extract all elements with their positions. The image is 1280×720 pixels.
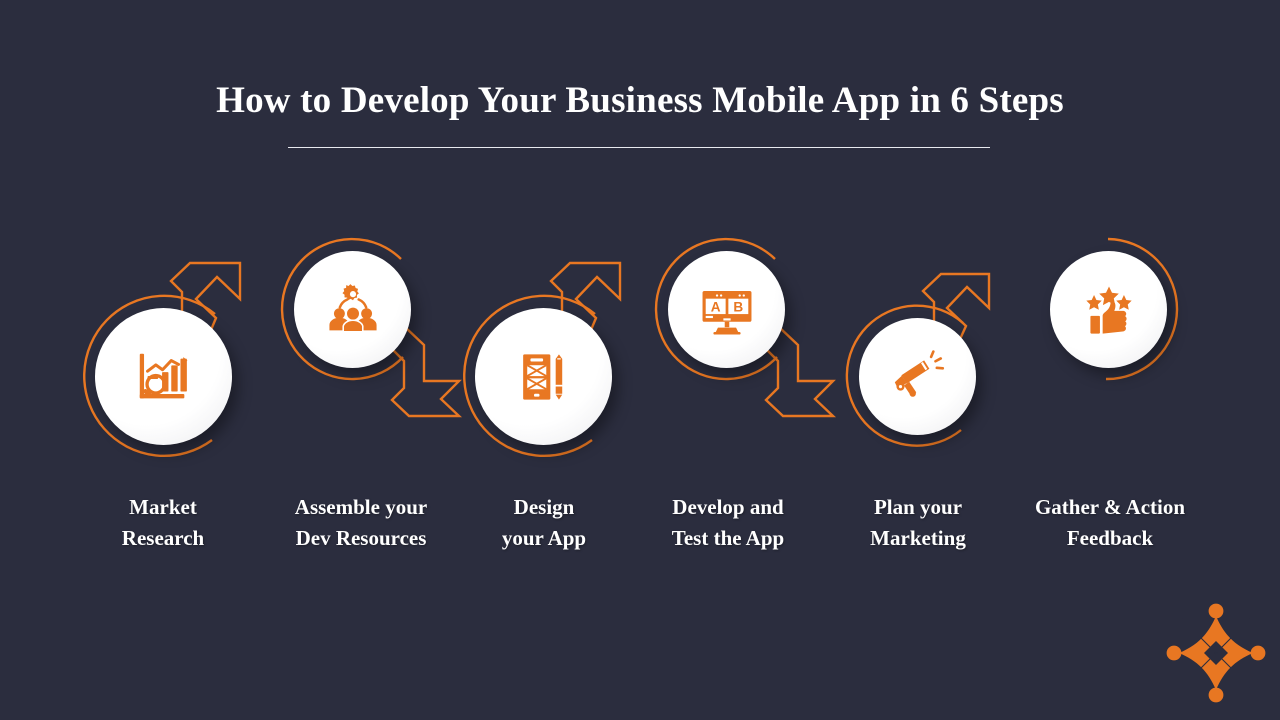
step-5-label: Plan your Marketing <box>830 492 1006 554</box>
step-4-label: Develop and Test the App <box>632 492 824 554</box>
four-point-star-dots-logo <box>1164 601 1268 705</box>
step-5-bubble[interactable] <box>859 318 976 435</box>
step-1-label: Market Research <box>75 492 251 554</box>
step-1-bubble[interactable] <box>95 308 232 445</box>
phone-wireframe-pencil-icon <box>515 348 573 406</box>
step-6-icon-holder <box>1050 251 1167 368</box>
step-2-bubble[interactable] <box>294 251 411 368</box>
svg-text:A: A <box>710 299 720 314</box>
thumbs-up-stars-icon <box>1080 281 1138 339</box>
step-6-label: Gather & Action Feedback <box>1012 492 1208 554</box>
process-steps: Market Research <box>0 0 1280 720</box>
step-2-icon-holder <box>294 251 411 368</box>
step-2-label: Assemble your Dev Resources <box>264 492 458 554</box>
team-gear-icon <box>324 281 382 339</box>
market-research-chart-magnifier-icon <box>133 346 195 408</box>
megaphone-icon <box>890 349 946 405</box>
ab-testing-monitor-icon: A B <box>698 281 756 339</box>
step-6-bubble[interactable] <box>1050 251 1167 368</box>
step-1-icon-holder <box>95 308 232 445</box>
slide-canvas: How to Develop Your Business Mobile App … <box>0 0 1280 720</box>
step-3-label: Design your App <box>456 492 632 554</box>
step-5-icon-holder <box>859 318 976 435</box>
step-4-bubble[interactable]: A B <box>668 251 785 368</box>
step-3-icon-holder <box>475 308 612 445</box>
svg-text:B: B <box>733 299 743 314</box>
step-4-icon-holder: A B <box>668 251 785 368</box>
step-3-bubble[interactable] <box>475 308 612 445</box>
